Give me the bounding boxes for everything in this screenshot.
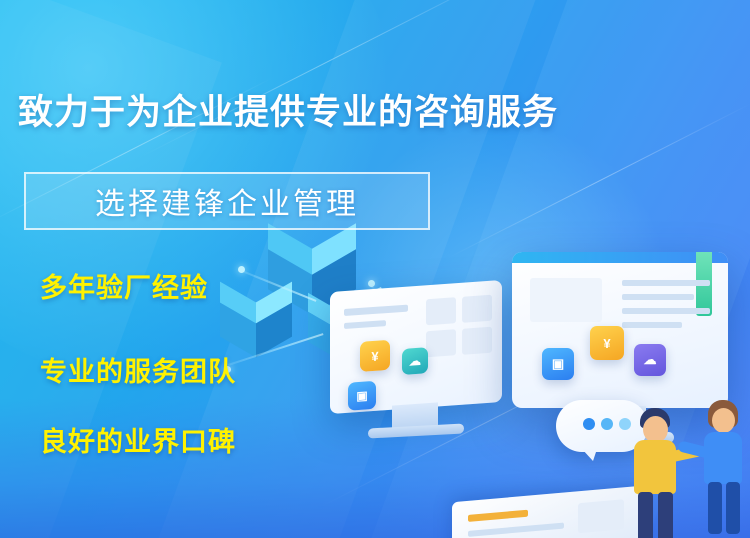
ui-block — [462, 327, 492, 355]
head — [643, 416, 668, 443]
currency-tile-icon: ¥ — [590, 326, 624, 360]
leg-left — [638, 492, 653, 538]
ui-line — [344, 305, 408, 316]
person-male — [628, 408, 698, 538]
bubble-dot-2 — [601, 418, 613, 430]
promo-banner: ¥ ☁ ▣ ¥ ☁ ▣ — [0, 0, 750, 538]
ui-line — [622, 280, 710, 286]
person-female — [700, 400, 750, 538]
bullet-item-1: 多年验厂经验 — [40, 266, 208, 305]
ui-line — [468, 523, 564, 537]
ui-block — [462, 295, 492, 323]
leg-left — [708, 482, 722, 534]
ui-line — [344, 320, 386, 329]
ui-line — [622, 322, 682, 328]
cloud-symbol: ☁ — [409, 354, 421, 369]
image-tile-icon: ▣ — [542, 348, 574, 380]
ui-block — [426, 329, 456, 357]
ui-line — [622, 294, 694, 300]
cloud-tile-icon: ☁ — [634, 344, 666, 376]
ui-line — [468, 510, 528, 522]
monitor-secondary: ¥ ☁ ▣ — [330, 280, 502, 414]
bubble-dot-1 — [583, 418, 595, 430]
torso — [634, 440, 676, 494]
cloud-tile-icon: ☁ — [402, 347, 428, 375]
ui-block — [426, 297, 456, 325]
ui-line — [622, 308, 710, 314]
leg-right — [726, 482, 740, 534]
ui-block — [530, 278, 602, 322]
currency-tile-icon: ¥ — [360, 340, 390, 372]
subtitle-text: 选择建锋企业管理 — [95, 179, 359, 223]
head — [712, 408, 735, 433]
currency-symbol: ¥ — [371, 348, 378, 364]
image-symbol: ▣ — [552, 356, 564, 372]
monitor-primary: ¥ ☁ ▣ — [512, 252, 728, 408]
bullet-item-2: 专业的服务团队 — [40, 350, 236, 389]
page-title: 致力于为企业提供专业的咨询服务 — [18, 84, 558, 135]
bullet-item-3: 良好的业界口碑 — [40, 420, 236, 459]
image-symbol: ▣ — [356, 388, 367, 403]
ui-block — [578, 499, 624, 533]
cloud-symbol: ☁ — [644, 352, 657, 368]
torso — [704, 432, 742, 484]
currency-symbol: ¥ — [603, 336, 610, 351]
leg-right — [658, 492, 673, 538]
image-tile-icon: ▣ — [348, 381, 376, 411]
subtitle-box: 选择建锋企业管理 — [24, 172, 430, 230]
